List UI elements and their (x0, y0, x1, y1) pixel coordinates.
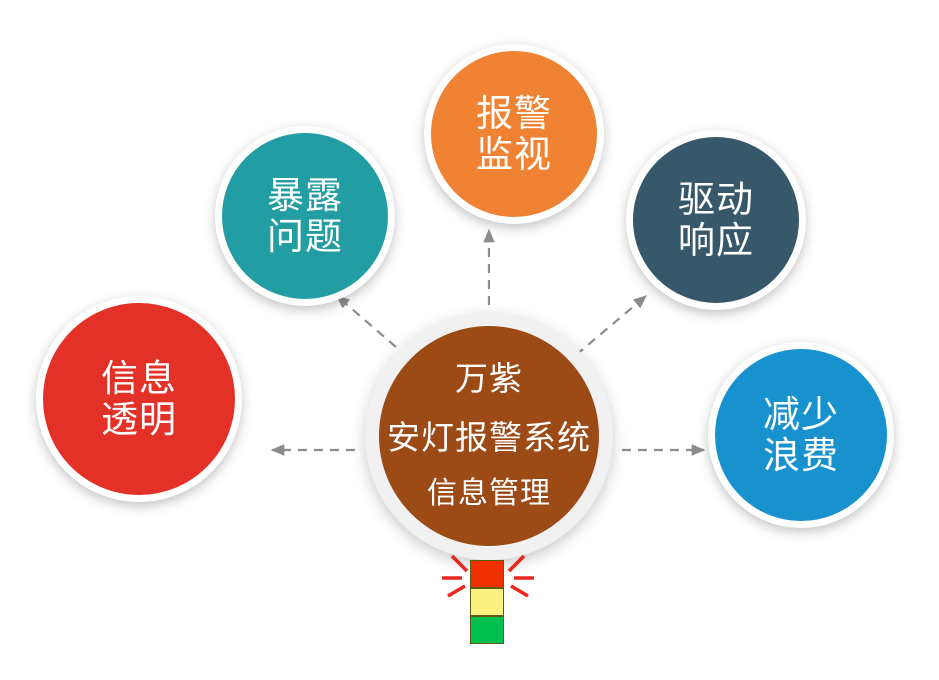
node-expose-problem-line2: 问题 (267, 216, 343, 257)
node-info-transparent-line2: 透明 (101, 399, 177, 440)
node-expose-problem-line1: 暴露 (267, 175, 343, 216)
connector-hub-to-drive-response (576, 296, 646, 355)
center-hub[interactable]: 万紫 安灯报警系统 信息管理 (379, 326, 599, 546)
node-alarm-monitor-line1: 报警 (476, 93, 552, 134)
node-info-transparent-line1: 信息 (101, 358, 177, 399)
node-alarm-monitor[interactable]: 报警 监视 (424, 44, 604, 224)
node-info-transparent[interactable]: 信息 透明 (36, 296, 242, 502)
node-reduce-waste-line1: 减少 (763, 394, 839, 435)
andon-lamp-yellow (470, 588, 504, 616)
andon-ray-lower-left (448, 586, 465, 596)
center-hub-line1: 万紫 (455, 361, 523, 398)
andon-lamp-green (470, 616, 504, 644)
node-reduce-waste-line2: 浪费 (763, 435, 839, 476)
andon-ray-upper-right (509, 556, 524, 571)
node-reduce-waste[interactable]: 减少 浪费 (708, 342, 894, 528)
node-drive-response-line2: 响应 (678, 220, 754, 261)
andon-ray-lower-right (511, 586, 528, 596)
andon-ray-upper-left (452, 556, 467, 571)
center-hub-line3: 信息管理 (427, 477, 551, 511)
andon-lamp-red (470, 560, 504, 588)
node-alarm-monitor-line2: 监视 (476, 134, 552, 175)
diagram-canvas: 报警 监视 暴露 问题 驱动 响应 信息 透明 减少 浪费 万紫 安灯报警系统 … (0, 0, 939, 680)
node-drive-response[interactable]: 驱动 响应 (626, 130, 806, 310)
andon-light-tower[interactable] (470, 560, 504, 646)
connector-hub-to-expose-problem (337, 296, 396, 347)
center-hub-line2: 安灯报警系统 (387, 420, 591, 457)
node-expose-problem[interactable]: 暴露 问题 (215, 126, 395, 306)
node-drive-response-line1: 驱动 (678, 179, 754, 220)
